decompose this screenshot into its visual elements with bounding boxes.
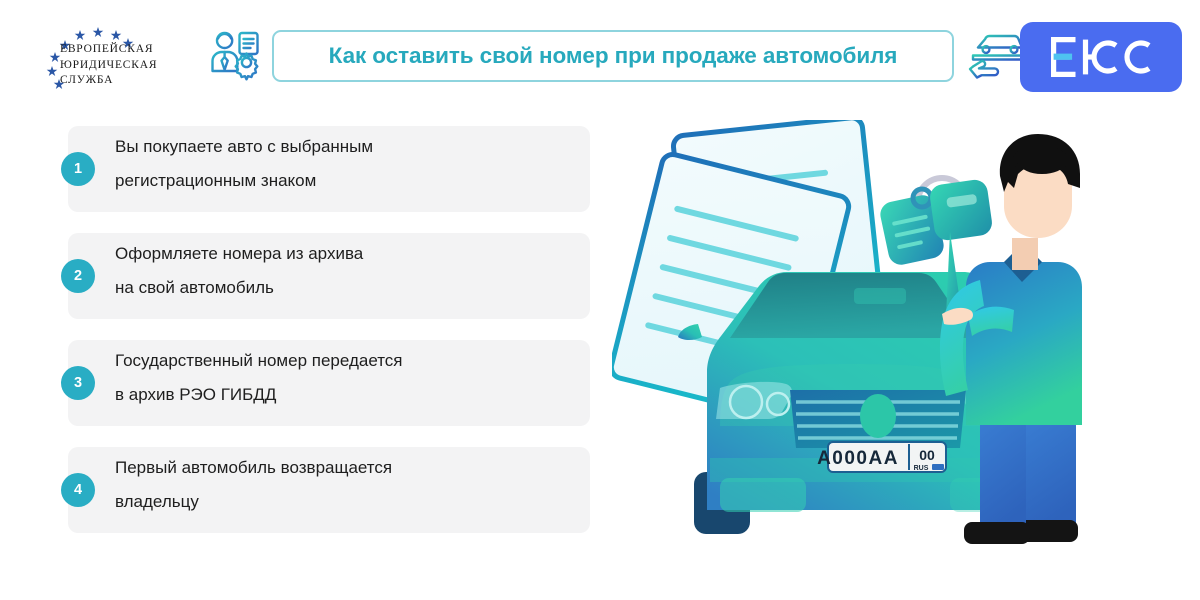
license-plate-region: 00 xyxy=(919,447,935,463)
man-leg-front xyxy=(980,410,1026,532)
step-badge-1: 1 xyxy=(61,152,95,186)
infographic-page: ЕВРОПЕЙСКАЯ ЮРИДИЧЕСКАЯ СЛУЖБА xyxy=(0,0,1200,600)
step-badge-2: 2 xyxy=(61,259,95,293)
step-text-4: Первый автомобиль возвращается владельцу xyxy=(115,451,555,519)
car-vent-left xyxy=(720,478,806,512)
step-3-line-2: в архив РЭО ГИБДД xyxy=(115,378,555,412)
car-emblem xyxy=(860,394,896,438)
license-plate-number: А000АА xyxy=(817,448,899,469)
step-2-line-2: на свой автомобиль xyxy=(115,271,555,305)
step-4-line-2: владельцу xyxy=(115,485,555,519)
step-3-line-1: Государственный номер передается xyxy=(115,344,555,378)
car-grille xyxy=(790,390,966,448)
illustration-svg: А000АА 00 RUS xyxy=(612,120,1092,560)
man-neck xyxy=(1012,238,1038,270)
eus-accent-bar xyxy=(1054,54,1073,60)
steps-list: 1 Вы покупаете авто с выбранным регистра… xyxy=(0,0,620,600)
step-2-line-1: Оформляете номера из архива xyxy=(115,237,555,271)
step-text-3: Государственный номер передается в архив… xyxy=(115,344,555,412)
car-headlight-left xyxy=(716,382,792,419)
step-badge-4: 4 xyxy=(61,473,95,507)
step-badge-3: 3 xyxy=(61,366,95,400)
step-4-line-1: Первый автомобиль возвращается xyxy=(115,451,555,485)
step-1-line-2: регистрационным знаком xyxy=(115,164,555,198)
step-1-line-1: Вы покупаете авто с выбранным xyxy=(115,130,555,164)
man-leg-back xyxy=(1024,410,1076,530)
eus-logo xyxy=(1020,22,1182,92)
eus-logo-mark xyxy=(1045,35,1157,79)
windshield-sticker xyxy=(854,288,906,304)
step-text-1: Вы покупаете авто с выбранным регистраци… xyxy=(115,130,555,198)
license-plate-country: RUS xyxy=(914,465,929,472)
license-plate: А000АА 00 RUS xyxy=(817,442,946,472)
step-text-2: Оформляете номера из архива на свой авто… xyxy=(115,237,555,305)
man-torso xyxy=(966,262,1082,425)
car-keys-documents-illustration: А000АА 00 RUS xyxy=(612,120,1092,560)
man-shoe-front xyxy=(964,522,1030,544)
